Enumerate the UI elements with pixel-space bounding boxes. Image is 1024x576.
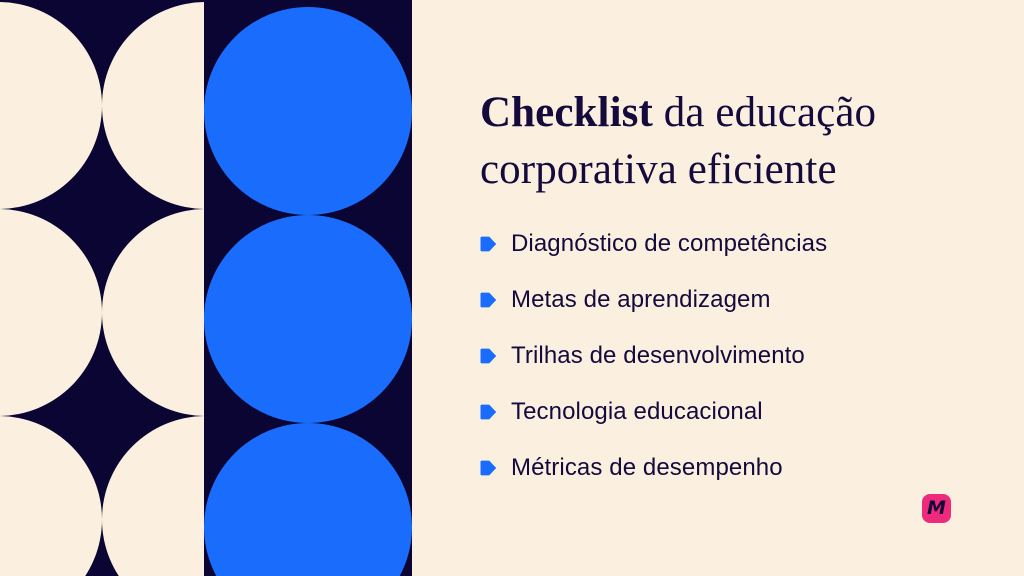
slide-canvas: Checklist da educação corporativa eficie…: [0, 0, 1024, 576]
list-item: Trilhas de desenvolvimento: [480, 328, 950, 384]
arrow-bullet-icon: [480, 236, 497, 252]
page-title: Checklist da educação corporativa eficie…: [480, 85, 958, 199]
list-item-label: Métricas de desempenho: [511, 454, 783, 482]
cream-circle-column-left: [0, 0, 102, 576]
list-item-label: Trilhas de desenvolvimento: [511, 342, 805, 370]
cream-circle: [0, 416, 102, 576]
arrow-bullet-icon: [480, 292, 497, 308]
cream-circle-column-right: [102, 0, 204, 576]
list-item: Metas de aprendizagem: [480, 272, 950, 328]
page-title-emphasis: Checklist: [480, 89, 653, 136]
blue-circle: [204, 7, 412, 215]
blue-circle: [204, 215, 412, 423]
blue-circle: [204, 423, 412, 576]
list-item: Diagnóstico de competências: [480, 216, 950, 272]
arrow-bullet-icon: [480, 460, 497, 476]
cream-circle: [102, 209, 204, 416]
list-item-label: Metas de aprendizagem: [511, 286, 771, 314]
list-item-label: Tecnologia educacional: [511, 398, 763, 426]
content-area: Checklist da educação corporativa eficie…: [480, 0, 980, 576]
list-item-label: Diagnóstico de competências: [511, 230, 827, 258]
blue-circle-column: [204, 0, 412, 576]
list-item: Métricas de desempenho: [480, 440, 950, 496]
list-item: Tecnologia educacional: [480, 384, 950, 440]
brand-logo: M: [922, 494, 951, 523]
cream-circle: [0, 209, 102, 416]
checklist: Diagnóstico de competências Metas de apr…: [480, 216, 950, 496]
decorative-graphic-panel: [0, 0, 412, 576]
arrow-bullet-icon: [480, 348, 497, 364]
cream-circle: [102, 2, 204, 209]
brand-logo-mark: M: [922, 494, 951, 523]
arrow-bullet-icon: [480, 404, 497, 420]
cream-circle: [0, 2, 102, 209]
cream-circle: [102, 416, 204, 576]
